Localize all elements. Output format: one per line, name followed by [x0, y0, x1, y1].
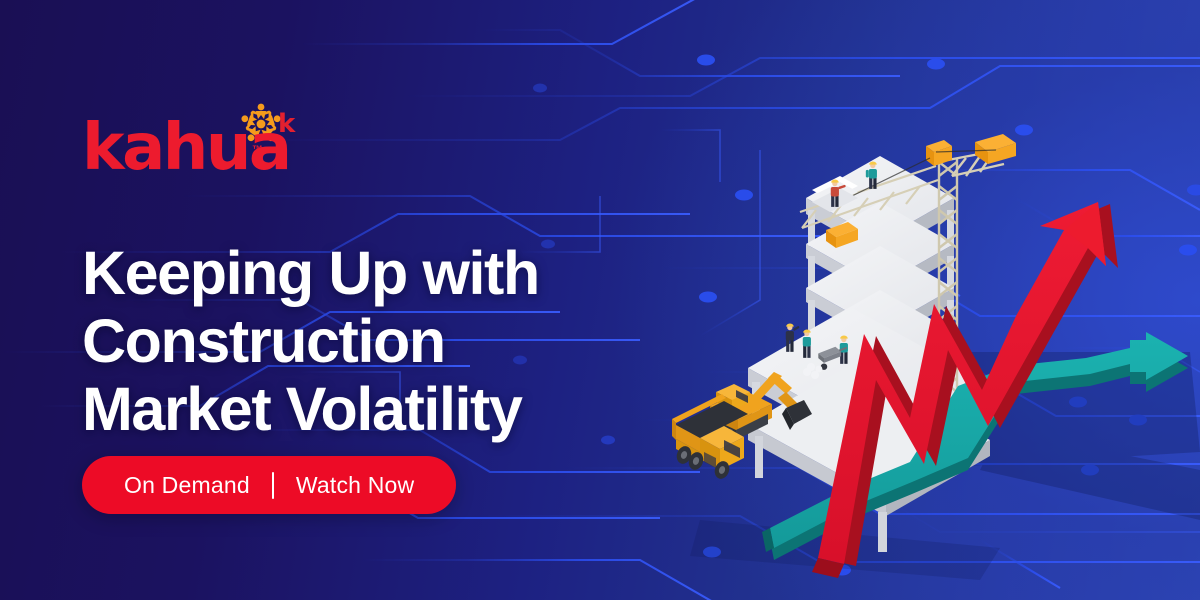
crane-counterweight: [975, 134, 1016, 164]
headline-line-3: Market Volatility: [82, 375, 692, 443]
webinar-promo-banner: k kahua ™ Keeping Up with Construction M…: [0, 0, 1200, 600]
trademark-symbol: ™: [252, 144, 264, 156]
kahua-logo[interactable]: k kahua ™: [82, 96, 322, 182]
headline-line-2: Construction: [82, 307, 692, 375]
cta-divider: [272, 472, 274, 499]
cta-label-watch-now: Watch Now: [296, 472, 415, 499]
crane-cab: [926, 140, 952, 166]
page-title: Keeping Up with Construction Market Vola…: [82, 239, 692, 443]
cta-label-on-demand: On Demand: [124, 472, 250, 499]
headline-line-1: Keeping Up with: [82, 239, 692, 307]
watch-now-cta-button[interactable]: On Demand Watch Now: [82, 456, 456, 514]
